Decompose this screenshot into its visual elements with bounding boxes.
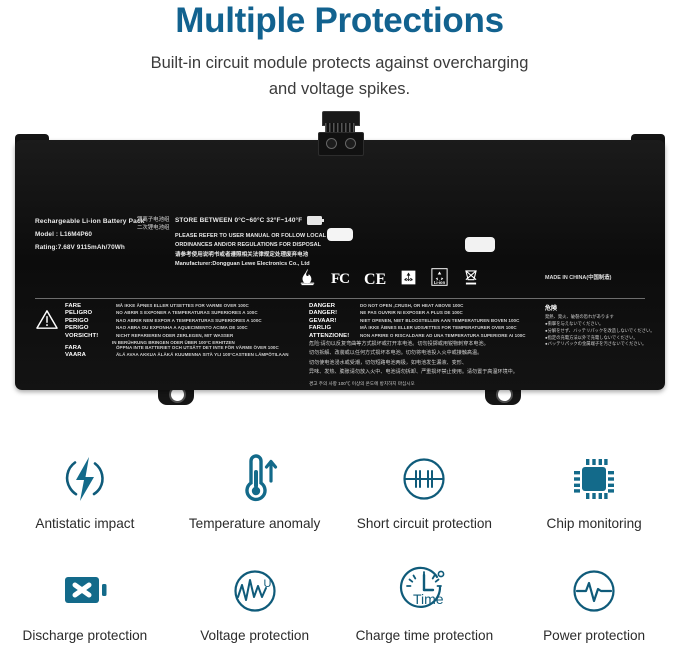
warning-key: PERIGO	[65, 325, 111, 331]
warning-key: GEVAAR!	[309, 318, 355, 324]
label-white-sticker	[327, 228, 353, 241]
warning-value: NAO ABRA OU EXPONHA A AQUECIMENTO ACIMA …	[116, 325, 248, 330]
short-circuit-icon	[396, 448, 452, 510]
warning-chinese-line: 切勿使电池浸水或受潮，切勿短路电池两极，如电池发生漏液、变形、	[309, 359, 537, 368]
warning-row: ATTENZIONE!NON APRIRE O RISCALDARE AD UN…	[309, 333, 537, 339]
page-subtitle: Built-in circuit module protects against…	[80, 50, 600, 103]
warning-value: ÄLÄ AVAA AKKUA ÄLÄKÄ KUUMENNA SITÄ YLI 1…	[116, 352, 289, 357]
warning-row: PERIGONAO ABRA OU EXPONHA A AQUECIMENTO …	[65, 325, 301, 331]
warning-triangle-icon	[35, 303, 59, 387]
feature-discharge-protection: Discharge protection	[0, 560, 170, 654]
feature-short-circuit-protection: Short circuit protection	[340, 448, 510, 560]
svg-text:Li-ion: Li-ion	[434, 281, 446, 286]
connector-screw-left-icon	[326, 138, 337, 149]
thermometer-arrow-icon	[227, 448, 283, 510]
chip-icon	[566, 448, 622, 510]
antistatic-lightning-icon	[57, 448, 113, 510]
label-divider	[35, 298, 645, 299]
label-white-sticker-secondary	[465, 237, 495, 252]
warning-value: NIET OPENEN, NIET BLOOSTELLEN AAN TEMPER…	[360, 318, 519, 323]
svg-text:U: U	[263, 578, 271, 590]
battery-product-image: Rechargeable Li-ion Battery Pack Model :…	[0, 111, 679, 423]
label-disposal-line-1: PLEASE REFER TO USER MANUAL OR FOLLOW LO…	[175, 232, 445, 241]
warning-value: MÅ IKKE ÅPNES ELLER UTSETTES FOR VARME O…	[116, 303, 249, 308]
weee-crossed-bin-icon	[463, 268, 479, 292]
warning-row: PERIGONAO ABRIR NEM EXPOR A TEMPERATURAS…	[65, 318, 301, 324]
feature-grid: Antistatic impact Temperature anomaly Sh…	[0, 448, 679, 654]
certification-icons: FC CE	[299, 268, 479, 292]
fcc-icon: FC	[331, 271, 349, 288]
label-store-temperature: STORE BETWEEN 0°C~60°C 32°F~140°F	[175, 216, 445, 225]
feature-antistatic-impact: Antistatic impact	[0, 448, 170, 560]
warning-row: PELIGRONO ABRIR S EXPONER A TEMPERATURAS…	[65, 310, 301, 316]
label-rating: Rating:7.68V 9115mAh/70Wh	[35, 244, 185, 251]
subtitle-line-2: and voltage spikes.	[269, 80, 410, 98]
warning-row: FARAÖPPNA INTE BATTERIET OCH UTSÄTT DET …	[65, 345, 301, 351]
warning-japanese-line: ●衝撃を与えないでください。	[545, 321, 665, 328]
warning-value: NAO ABRIR NEM EXPOR A TEMPERATURAS SUPER…	[116, 318, 262, 323]
store-temperature-text: STORE BETWEEN 0°C~60°C 32°F~140°F	[175, 217, 302, 224]
feature-label: Antistatic impact	[35, 516, 134, 532]
li-ion-recycle-icon: Li-ion	[431, 268, 448, 291]
page-title: Multiple Protections	[0, 2, 679, 41]
warning-japanese-line: 発熱、発火、破裂の恐れがあります	[545, 314, 665, 321]
warning-row: FARLIGMÅ IKKE ÅBNES ELLER UDSÆTTES FOR T…	[309, 325, 537, 331]
label-made-in: MADE IN CHINA(中国制造)	[545, 273, 611, 281]
warning-row: DANGER!NE PAS OUVRIR NI EXPOSER A PLUS D…	[309, 310, 537, 316]
warning-column-japanese: 危険 発熱、発火、破裂の恐れがあります ●衝撃を与えないでください。 ●分解をせ…	[545, 303, 665, 387]
warning-chinese-line: 异味、发热、膨胀请勿放入火中、电池请勿拆卸、严重损坏禁止使用。请勿置于高温环境中…	[309, 368, 537, 377]
feature-label: Short circuit protection	[357, 516, 492, 532]
warning-value: NE PAS OUVRIR NI EXPOSER A PLUS DE 100C	[360, 310, 463, 315]
warning-row: DANGERDO NOT OPEN ,CRUSH, OR HEAT ABOVE …	[309, 303, 537, 309]
warning-japanese-line: ●分解をせず、バッテリパックを改造しないでください。	[545, 328, 665, 335]
label-disposal-line-3: 请参考使用说明书或者遵照相关法律规定处理废弃电池	[175, 251, 445, 260]
subtitle-line-1: Built-in circuit module protects against…	[151, 54, 529, 72]
warning-chinese-line: 切勿拆解、改装或以任何方式损坏本电池。切勿将电池投入火中或接触高温。	[309, 349, 537, 358]
battery-connector	[316, 111, 364, 153]
warning-key: FARA	[65, 345, 111, 351]
label-disposal-line-2: ORDINANCES AND/OR REGULATIONS FOR DISPOS…	[175, 241, 445, 250]
warning-key: DANGER!	[309, 310, 355, 316]
warning-row: VAARAÄLÄ AVAA AKKUA ÄLÄKÄ KUUMENNA SITÄ …	[65, 352, 301, 358]
warning-column-left: FAREMÅ IKKE ÅPNES ELLER UTSETTES FOR VAR…	[65, 303, 301, 387]
feature-label: Temperature anomaly	[189, 516, 320, 532]
battery-x-icon	[57, 560, 113, 622]
warning-key: VAARA	[65, 352, 111, 358]
feature-voltage-protection: U Voltage protection	[170, 560, 340, 654]
warning-value: NON APRIRE O RISCALDARE AD UNA TEMPERATU…	[360, 333, 526, 338]
warning-key: FARE	[65, 303, 111, 309]
feature-label: Discharge protection	[23, 628, 148, 644]
warning-value: NICHT REPARIEREN ODER ZERLEGEN, MIT WASS…	[116, 333, 233, 338]
no-fire-icon	[299, 268, 316, 291]
feature-power-protection: Power protection	[509, 560, 679, 654]
warning-japanese-line: ●バッテリパックの金属端子を汚さないでください。	[545, 341, 665, 348]
warning-row: GEVAAR!NIET OPENEN, NIET BLOOSTELLEN AAN…	[309, 318, 537, 324]
recycle-icon	[401, 270, 416, 290]
warning-key: PERIGO	[65, 318, 111, 324]
warning-key: PELIGRO	[65, 310, 111, 316]
warning-key: FARLIG	[309, 325, 355, 331]
warning-column-right: DANGERDO NOT OPEN ,CRUSH, OR HEAT ABOVE …	[309, 303, 537, 387]
warning-value: NO ABRIR S EXPONER A TEMPERATURAS SUPERI…	[116, 310, 258, 315]
feature-label: Power protection	[543, 628, 645, 644]
power-pulse-icon	[566, 560, 622, 622]
charge-clock-icon: Time	[396, 560, 452, 622]
label-warning-block: FAREMÅ IKKE ÅPNES ELLER UTSETTES FOR VAR…	[35, 303, 645, 387]
warning-value: MÅ IKKE ÅBNES ELLER UDSÆTTES FOR TEMPERA…	[360, 325, 517, 330]
connector-base	[318, 132, 364, 156]
voltage-waveform-icon: U	[227, 560, 283, 622]
warning-key: DANGER	[309, 303, 355, 309]
label-chinese-name: 锂离子电池组 二次锂电池组	[137, 216, 169, 232]
feature-charge-time-protection: Time Charge time protection	[340, 560, 510, 654]
header: Multiple Protections Built-in circuit mo…	[0, 0, 679, 103]
warning-value: DO NOT OPEN ,CRUSH, OR HEAT ABOVE 100C	[360, 303, 463, 308]
label-chinese-name-line-1: 锂离子电池组	[137, 216, 169, 224]
connector-screw-right-icon	[345, 138, 356, 149]
feature-temperature-anomaly: Temperature anomaly	[170, 448, 340, 560]
feature-label: Voltage protection	[200, 628, 309, 644]
feature-chip-monitoring: Chip monitoring	[509, 448, 679, 560]
warning-row: FAREMÅ IKKE ÅPNES ELLER UTSETTES FOR VAR…	[65, 303, 301, 309]
warning-row: VORSICHT!NICHT REPARIEREN ODER ZERLEGEN,…	[65, 333, 301, 339]
warning-korean: 경고 주의 사항 100℃ 이상의 온도에 방치하지 마십시오	[309, 381, 537, 387]
warning-value: ÖPPNA INTE BATTERIET OCH UTSÄTT DET INTE…	[116, 345, 279, 350]
label-storage-disposal: STORE BETWEEN 0°C~60°C 32°F~140°F PLEASE…	[175, 216, 445, 270]
warning-japanese-title: 危険	[545, 303, 665, 312]
label-chinese-name-line-2: 二次锂电池组	[137, 224, 169, 232]
feature-label: Charge time protection	[356, 628, 494, 644]
battery-label: Rechargeable Li-ion Battery Pack Model :…	[15, 140, 665, 390]
warning-key: ATTENZIONE!	[309, 333, 355, 339]
warning-key: VORSICHT!	[65, 333, 111, 339]
ce-icon: CE	[364, 271, 386, 289]
warning-chinese-line: 危险:请勿以反复弯曲等方式损坏或打开本电池。切勿投掷或用锐物刺穿本电池。	[309, 340, 537, 349]
battery-body: Rechargeable Li-ion Battery Pack Model :…	[15, 140, 665, 390]
svg-text:Time: Time	[413, 591, 444, 607]
feature-label: Chip monitoring	[547, 516, 642, 532]
battery-glyph-icon	[307, 216, 322, 225]
